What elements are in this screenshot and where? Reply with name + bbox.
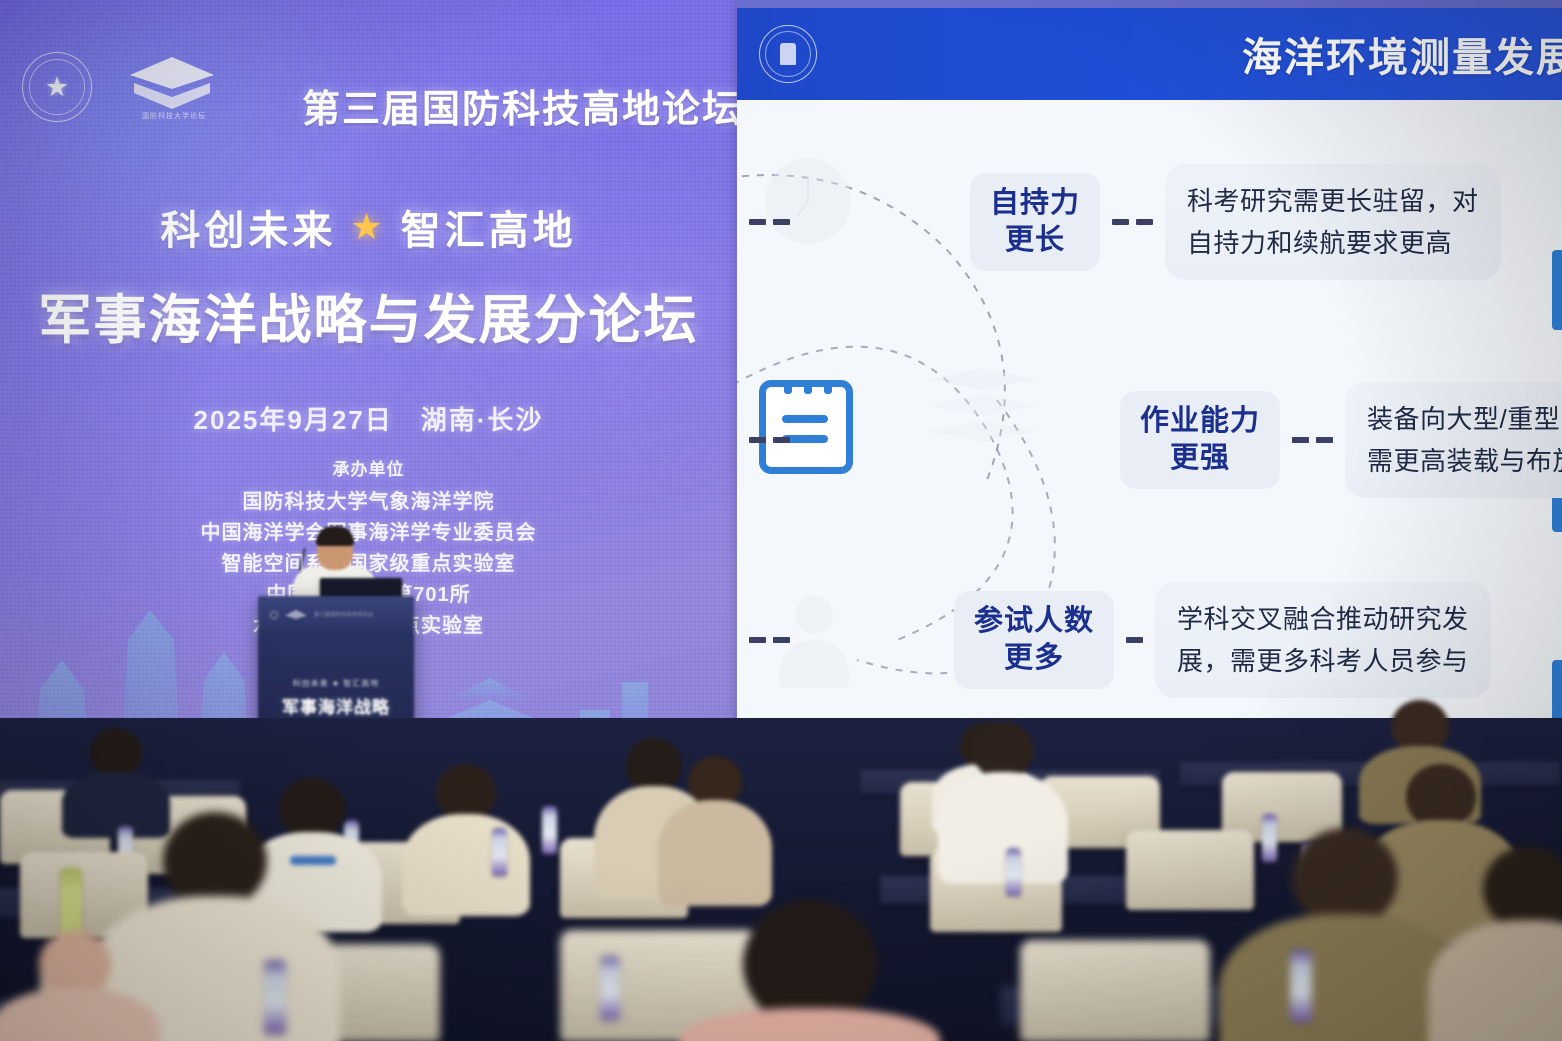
organizer-heading: 承办单位 xyxy=(0,455,737,480)
water-bottle xyxy=(1006,848,1021,896)
water-bottle xyxy=(492,828,507,876)
audience-head xyxy=(90,728,142,778)
point-label-line: 作业能力 xyxy=(1140,403,1260,440)
dash-segment xyxy=(1292,437,1309,443)
audience-person xyxy=(0,930,150,1041)
slide-point-row: 参试人数 更多 学科交叉融合推动研究发 展，需更多科考人员参与 xyxy=(737,582,1562,698)
slogan-star-icon: ★ xyxy=(350,206,386,248)
dashed-connector xyxy=(749,437,790,443)
podium-title-line: 军事海洋战略 xyxy=(258,696,414,721)
slide-point-row: 作业能力 更强 装备向大型/重型 需更高装载与布放 xyxy=(737,382,1562,498)
point-description-3: 学科交叉融合推动研究发 展，需更多科考人员参与 xyxy=(1155,582,1491,698)
audience-body xyxy=(0,988,160,1041)
point-label-line: 参试人数 xyxy=(974,603,1094,640)
point-label-1: 自持力 更长 xyxy=(970,173,1100,271)
audience-head xyxy=(1292,828,1398,928)
audience-body xyxy=(402,814,530,916)
slide-point-row: 自持力 更长 科考研究需更长驻留，对 自持力和续航要求更高 xyxy=(737,164,1562,280)
audience-person xyxy=(404,764,528,914)
dashed-connector xyxy=(749,637,790,643)
slide-header: 海洋环境测量发展 xyxy=(737,8,1562,100)
dashed-connector xyxy=(1112,219,1153,225)
podium-logo-row: 第三届国防科技高地论坛 xyxy=(270,610,402,619)
nudt-book-logo-icon: 国防科技大学论坛 xyxy=(122,55,222,119)
point-label-line: 更强 xyxy=(1140,440,1260,477)
presentation-slide: 海洋环境测量发展 xyxy=(737,0,1562,772)
seal-inner-mark xyxy=(780,43,796,65)
audience-person xyxy=(940,722,1066,882)
dash-segment xyxy=(773,637,790,643)
description-line: 科考研究需更长驻留，对 xyxy=(1187,180,1479,222)
audience-body xyxy=(1428,920,1562,1041)
point-description-1: 科考研究需更长驻留，对 自持力和续航要求更高 xyxy=(1165,164,1501,280)
dash-segment xyxy=(1136,219,1153,225)
point-label-line: 更长 xyxy=(990,222,1080,259)
description-line: 装备向大型/重型 xyxy=(1367,398,1562,440)
forum-title: 第三届国防科技高地论坛 xyxy=(302,78,737,133)
dash-segment xyxy=(749,637,766,643)
dashed-connector xyxy=(749,219,790,225)
speaker-hair xyxy=(316,526,354,546)
point-label-3: 参试人数 更多 xyxy=(954,591,1114,689)
conference-photo-scene: ★ 国防科技大学论坛 第三届国防科技高地论坛 科创未来 ★ 智汇高地 军事海洋战… xyxy=(0,0,1562,1041)
banner-logo-group: ★ 国防科技大学论坛 xyxy=(22,52,222,122)
water-bottle xyxy=(264,960,286,1034)
banner-slogan: 科创未来 ★ 智汇高地 xyxy=(0,198,737,256)
dash-segment xyxy=(749,219,766,225)
description-line: 需更高装载与布放 xyxy=(1367,440,1562,482)
dashed-connector xyxy=(1292,437,1333,443)
seal-star-glyph: ★ xyxy=(45,74,69,101)
description-line: 展，需更多科考人员参与 xyxy=(1177,640,1469,682)
audience-body xyxy=(680,1008,940,1041)
audience-person xyxy=(690,900,930,1041)
podium-logo-text: 第三届国防科技高地论坛 xyxy=(314,611,373,618)
dash-segment xyxy=(1316,437,1333,443)
slide-top-strip xyxy=(737,0,1562,8)
water-bottle xyxy=(542,806,557,854)
audience-person xyxy=(1230,828,1460,1041)
dash-segment xyxy=(1112,219,1129,225)
dash-segment xyxy=(773,219,790,225)
audience-body xyxy=(658,800,772,906)
national-defense-seal-icon: ★ xyxy=(22,52,92,122)
banner-main-title: 军事海洋战略与发展分论坛 xyxy=(0,278,737,354)
dashed-connector xyxy=(1126,637,1143,643)
slide-header-title: 海洋环境测量发展 xyxy=(1242,25,1562,83)
audience-person xyxy=(660,756,770,906)
audience-person xyxy=(1438,846,1562,1041)
slogan-right-text: 智汇高地 xyxy=(401,198,577,256)
point-label-line: 更多 xyxy=(974,640,1094,677)
dash-segment xyxy=(749,437,766,443)
description-line: 自持力和续航要求更高 xyxy=(1187,222,1479,264)
audience-body xyxy=(938,772,1068,884)
university-seal-icon xyxy=(759,25,817,83)
podium-slogan: 科创未来 ★ 智汇高地 xyxy=(258,678,414,689)
slide-body: 自持力 更长 科考研究需更长驻留，对 自持力和续航要求更高 xyxy=(737,100,1562,772)
audience-chair xyxy=(1020,940,1210,1041)
cup xyxy=(600,956,620,1020)
dash-segment xyxy=(773,437,790,443)
point-description-2: 装备向大型/重型 需更高装载与布放 xyxy=(1345,382,1562,498)
dash-segment xyxy=(1126,637,1143,643)
banner-date-location: 2025年9月27日 湖南·长沙 xyxy=(0,400,737,437)
point-label-line: 自持力 xyxy=(990,185,1080,222)
slogan-left-text: 科创未来 xyxy=(160,198,336,256)
organizer-line: 国防科技大学气象海洋学院 xyxy=(0,487,737,518)
podium-book-icon xyxy=(285,610,307,619)
point-label-2: 作业能力 更强 xyxy=(1120,391,1280,489)
water-bottle xyxy=(1290,950,1312,1022)
description-line: 学科交叉融合推动研究发 xyxy=(1177,598,1469,640)
podium-seal-icon xyxy=(270,611,278,619)
book-logo-caption: 国防科技大学论坛 xyxy=(128,111,220,121)
